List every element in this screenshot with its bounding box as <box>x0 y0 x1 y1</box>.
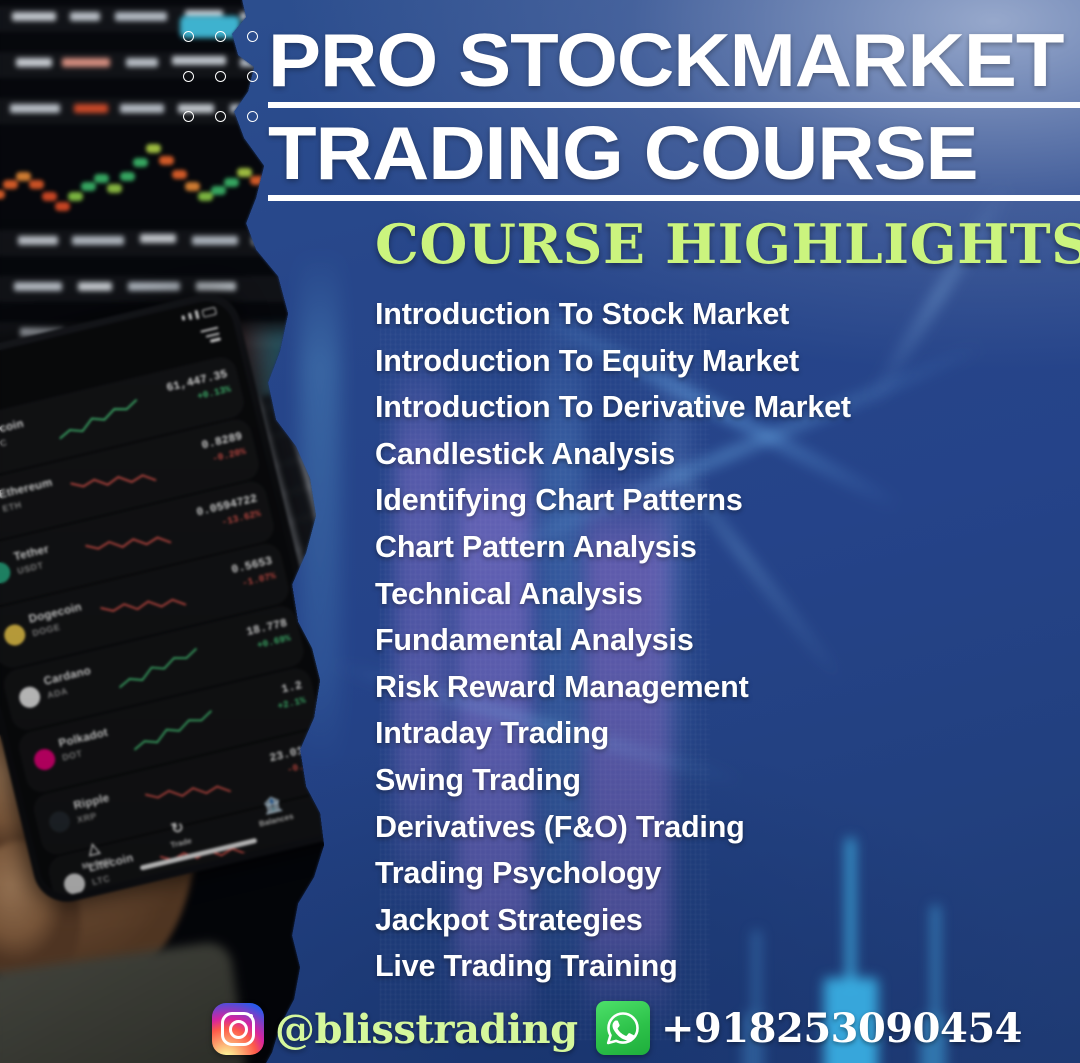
contact-footer: @blisstrading +918253090454 <box>0 997 1080 1059</box>
instagram-handle[interactable]: @blisstrading <box>275 1006 578 1053</box>
coin-sparkline <box>98 580 189 629</box>
title-line-1: PRO STOCKMARKET <box>268 22 1080 108</box>
highlight-item: Introduction To Equity Market <box>375 338 1065 385</box>
instagram-contact[interactable]: @blisstrading <box>212 1003 578 1055</box>
highlight-item: Trading Psychology <box>375 850 1065 897</box>
nav-item-markets[interactable]: △ Markets <box>77 838 113 871</box>
whatsapp-contact[interactable]: +918253090454 <box>596 1001 1022 1055</box>
page-title: PRO STOCKMARKET TRADING COURSE <box>268 22 1058 201</box>
whatsapp-icon[interactable] <box>596 1001 650 1055</box>
nav-item-balances[interactable]: 🏦 Balances <box>254 794 294 828</box>
highlight-item: Identifying Chart Patterns <box>375 477 1065 524</box>
home-indicator <box>140 838 258 871</box>
coin-ticker: ADA <box>46 686 69 701</box>
highlight-item: Introduction To Derivative Market <box>375 384 1065 431</box>
highlight-item: Live Trading Training <box>375 943 1065 990</box>
highlight-item: Candlestick Analysis <box>375 431 1065 478</box>
title-line-2: TRADING COURSE <box>268 115 1080 201</box>
coin-sparkline <box>83 518 174 567</box>
coin-name: Bitcoin <box>0 418 25 439</box>
whatsapp-number[interactable]: +918253090454 <box>661 1005 1022 1052</box>
coin-change: +2.1% <box>276 695 306 712</box>
coin-ticker: USDT <box>16 560 44 576</box>
coin-logo-icon <box>2 622 27 647</box>
phone-status-bar <box>181 306 217 323</box>
coin-ticker: DOT <box>61 748 83 763</box>
coin-logo-icon <box>32 747 57 772</box>
highlight-item: Intraday Trading <box>375 710 1065 757</box>
highlight-item: Introduction To Stock Market <box>375 291 1065 338</box>
coin-name: Polkadot <box>58 727 110 750</box>
coin-logo-icon <box>0 560 12 585</box>
dot-grid-decoration <box>183 31 279 151</box>
coin-logo-icon <box>17 685 42 710</box>
highlight-item: Risk Reward Management <box>375 664 1065 711</box>
coin-sparkline <box>54 393 145 442</box>
nav-item-trade[interactable]: ↻ Trade <box>165 819 192 850</box>
highlight-item: Fundamental Analysis <box>375 617 1065 664</box>
coin-ticker: BTC <box>0 437 8 451</box>
instagram-icon[interactable] <box>212 1003 264 1055</box>
coin-sparkline <box>69 456 160 505</box>
coin-name: Tether <box>13 543 50 563</box>
coin-sparkline <box>128 704 219 753</box>
coin-name: Ethereum <box>0 477 54 501</box>
coin-price: 1.2 <box>280 679 303 696</box>
poster-canvas: BitcoinBTC61,447.35+0.13%EthereumETH0.82… <box>0 0 1080 1063</box>
highlight-item: Chart Pattern Analysis <box>375 524 1065 571</box>
coin-name: Cardano <box>43 665 93 688</box>
highlight-item: Swing Trading <box>375 757 1065 804</box>
course-highlights-heading: COURSE HIGHLIGHTS <box>375 216 1080 272</box>
course-highlights-list: Introduction To Stock MarketIntroduction… <box>375 291 1065 990</box>
coin-ticker: ETH <box>1 500 22 514</box>
coin-sparkline <box>113 642 204 691</box>
menu-icon[interactable] <box>200 327 221 348</box>
highlight-item: Technical Analysis <box>375 571 1065 618</box>
highlight-item: Jackpot Strategies <box>375 897 1065 944</box>
highlight-item: Derivatives (F&O) Trading <box>375 804 1065 851</box>
